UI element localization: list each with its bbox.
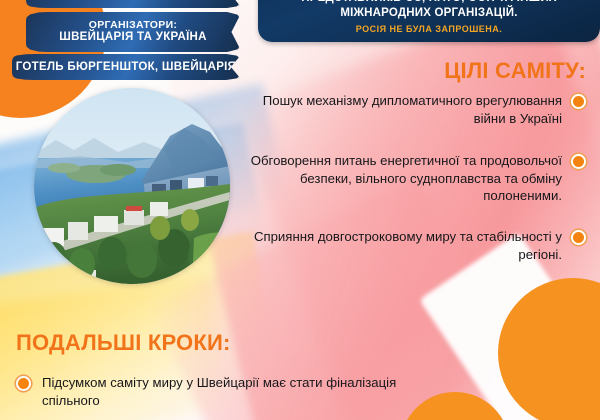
badge-partial-top <box>26 0 240 8</box>
next-steps-item-text: Підсумком саміту миру у Швейцарії має ст… <box>42 375 396 408</box>
next-steps-item: Підсумком саміту миру у Швейцарії має ст… <box>16 374 436 409</box>
participants-note: РОСІЯ НЕ БУЛА ЗАПРОШЕНА. <box>268 24 590 34</box>
bullet-icon <box>571 154 586 169</box>
badge-organizers: ОРГАНІЗАТОРИ: ШВЕЙЦАРІЯ ТА УКРАЇНА <box>26 12 240 52</box>
badge-venue: ГОТЕЛЬ БЮРГЕНШТОК, ШВЕЙЦАРІЯ <box>12 54 240 80</box>
badge-organizers-label: ОРГАНІЗАТОРИ: <box>89 20 177 32</box>
participants-line-2: МІЖНАРОДНИХ ОРГАНІЗАЦІЙ. <box>268 6 590 20</box>
badge-organizers-value: ШВЕЙЦАРІЯ ТА УКРАЇНА <box>59 31 207 44</box>
participants-panel: ПРЕДСТАВНИКІВ ЄС, НАТО, ООН ТА ІНШИХ МІЖ… <box>258 0 600 42</box>
bullet-icon <box>571 230 586 245</box>
badge-venue-label: ГОТЕЛЬ БЮРГЕНШТОК, ШВЕЙЦАРІЯ <box>16 61 237 73</box>
goal-item-text: Обговорення питань енергетичної та продо… <box>251 153 562 203</box>
goal-item: Пошук механізму дипломатичного врегулюва… <box>232 92 586 127</box>
infographic-canvas: ОРГАНІЗАТОРИ: ШВЕЙЦАРІЯ ТА УКРАЇНА ГОТЕЛ… <box>0 0 600 420</box>
next-steps-heading: ПОДАЛЬШІ КРОКИ: <box>16 330 231 356</box>
goal-item: Обговорення питань енергетичної та продо… <box>232 152 586 205</box>
goals-heading: ЦІЛІ САМІТУ: <box>444 58 586 84</box>
summit-venue-photo <box>34 88 230 284</box>
goal-item-text: Сприяння довгостроковому миру та стабіль… <box>254 229 562 262</box>
bullet-icon <box>16 376 31 391</box>
bullet-icon <box>571 94 586 109</box>
goal-item-text: Пошук механізму дипломатичного врегулюва… <box>263 93 562 126</box>
goal-item: Сприяння довгостроковому миру та стабіль… <box>232 228 586 263</box>
